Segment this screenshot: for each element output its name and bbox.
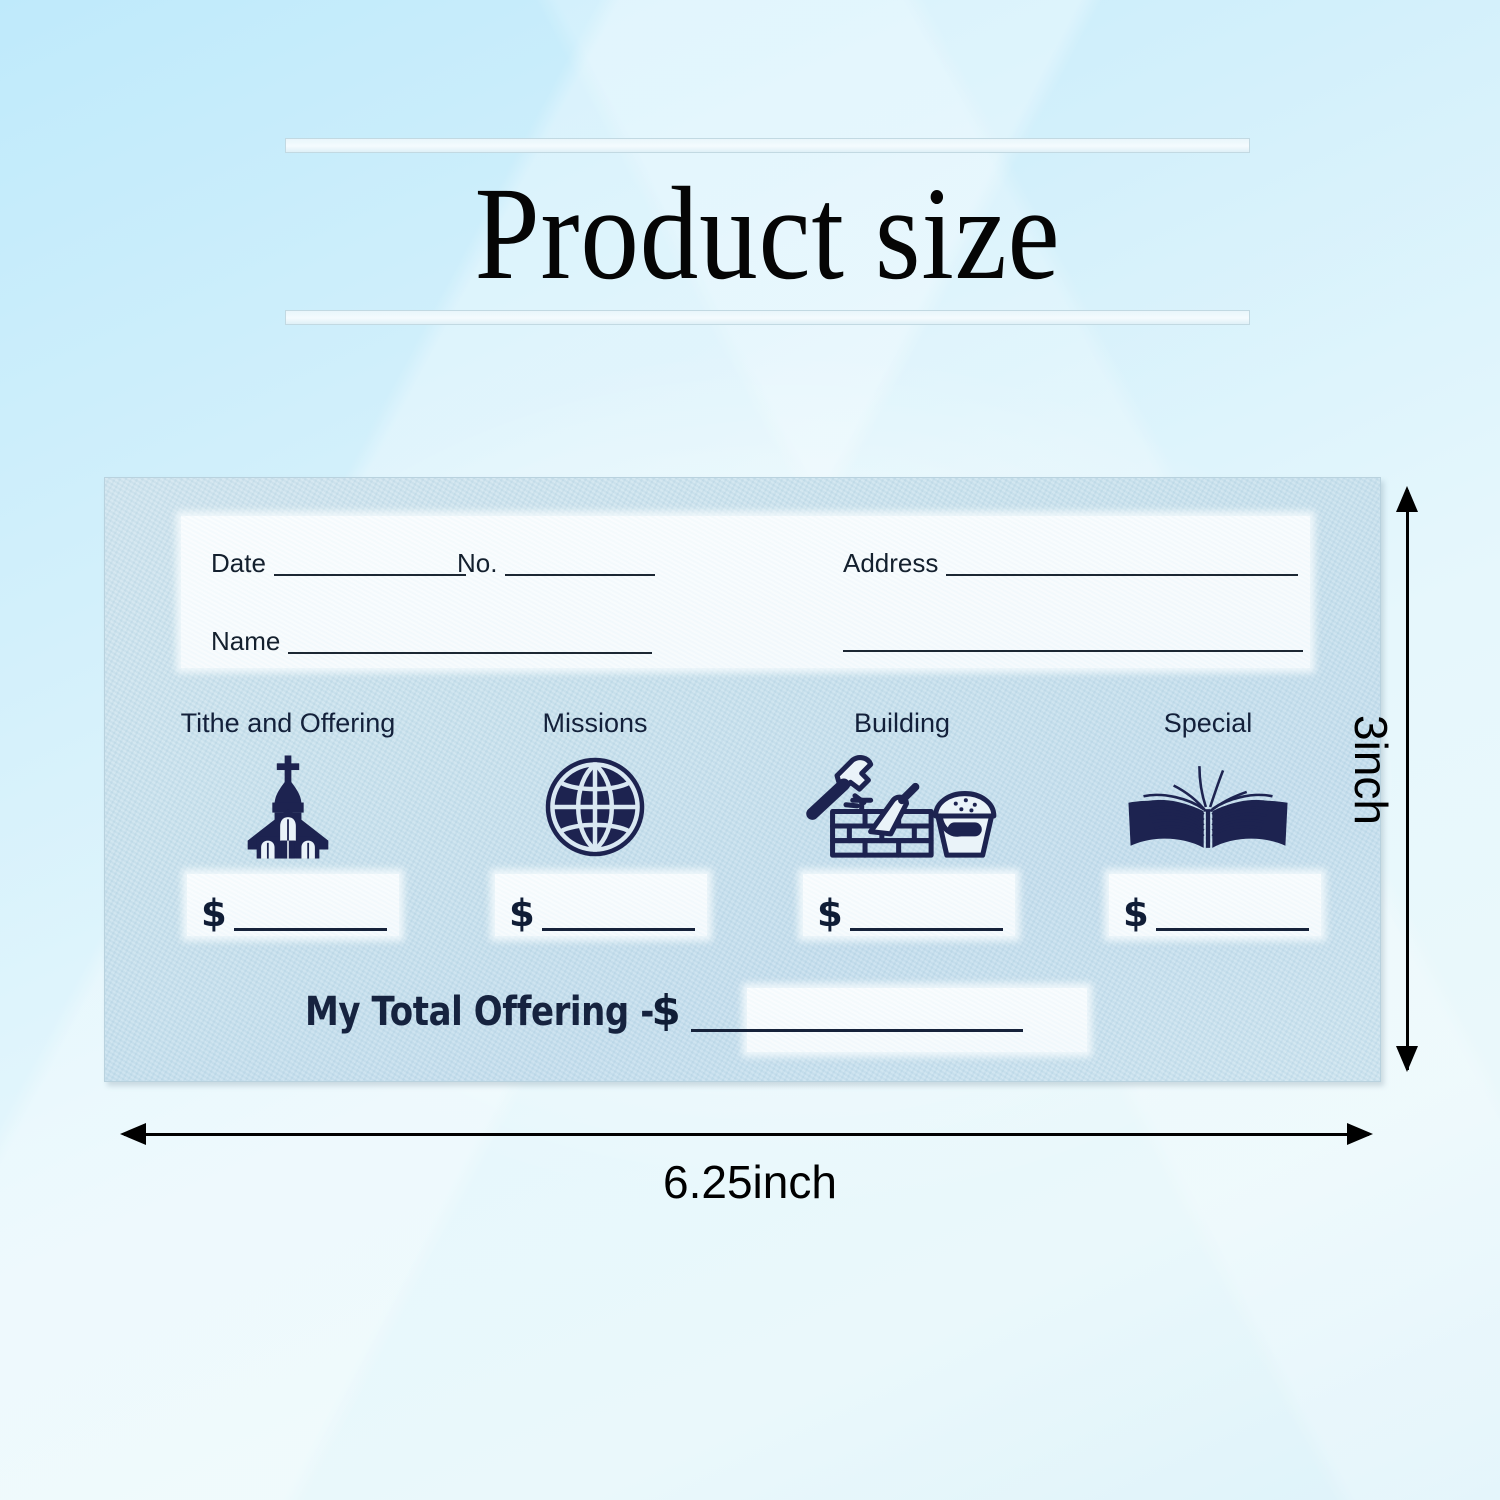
category-label: Special [1063, 710, 1353, 737]
category-tithe: Tithe and Offering [143, 710, 433, 865]
width-dimension-label: 6.25inch [0, 1155, 1500, 1209]
page-title: Product size [343, 167, 1192, 300]
amount-input-line-tithe[interactable] [234, 902, 387, 931]
currency-symbol: $ [201, 896, 234, 931]
total-offering-row: My Total Offering - $ [305, 990, 1105, 1032]
title-rule-bottom [285, 310, 1250, 325]
category-label: Building [757, 710, 1047, 737]
address-field[interactable]: Address [843, 550, 1298, 576]
address-field-line-2[interactable] [843, 628, 1303, 652]
title-block: Product size [285, 138, 1250, 325]
amount-box-missions[interactable]: $ [495, 874, 707, 936]
width-arrow-left-icon [120, 1123, 146, 1145]
date-field[interactable]: Date [211, 550, 466, 576]
name-input-line[interactable] [288, 630, 652, 654]
total-input-line[interactable] [691, 999, 1023, 1032]
amount-box-special[interactable]: $ [1109, 874, 1321, 936]
church-icon [143, 749, 433, 865]
no-input-line[interactable] [505, 552, 655, 576]
height-arrow-bottom-icon [1396, 1046, 1418, 1072]
no-field[interactable]: No. [457, 550, 655, 576]
date-label: Date [211, 550, 274, 576]
globe-icon [450, 749, 740, 865]
offering-envelope-card: Date No. Name Address Tithe and Offering [104, 477, 1381, 1082]
address-label: Address [843, 550, 946, 576]
category-label: Missions [450, 710, 740, 737]
currency-symbol: $ [817, 896, 850, 931]
currency-symbol: $ [652, 990, 691, 1032]
address-input-line[interactable] [946, 552, 1298, 576]
total-offering-label: My Total Offering - [305, 992, 654, 1032]
height-arrow-top-icon [1396, 486, 1418, 512]
height-dimension-line [1406, 490, 1409, 1070]
name-field[interactable]: Name [211, 628, 652, 654]
title-rule-top [285, 138, 1250, 153]
date-input-line[interactable] [274, 552, 466, 576]
currency-symbol: $ [1123, 896, 1156, 931]
currency-symbol: $ [509, 896, 542, 931]
width-arrow-right-icon [1347, 1123, 1373, 1145]
amount-box-tithe[interactable]: $ [187, 874, 399, 936]
category-building: Building [757, 710, 1047, 865]
height-dimension-label: 3inch [1344, 715, 1398, 825]
open-book-icon [1063, 749, 1353, 865]
category-special: Special [1063, 710, 1353, 865]
name-label: Name [211, 628, 288, 654]
construction-icon [757, 749, 1047, 865]
address-input-line-2[interactable] [843, 628, 1303, 652]
no-label: No. [457, 550, 505, 576]
category-label: Tithe and Offering [143, 710, 433, 737]
category-missions: Missions [450, 710, 740, 865]
width-dimension-line [124, 1133, 1369, 1136]
amount-input-line-missions[interactable] [542, 902, 695, 931]
amount-input-line-building[interactable] [850, 902, 1003, 931]
amount-input-line-special[interactable] [1156, 902, 1309, 931]
amount-box-building[interactable]: $ [803, 874, 1015, 936]
